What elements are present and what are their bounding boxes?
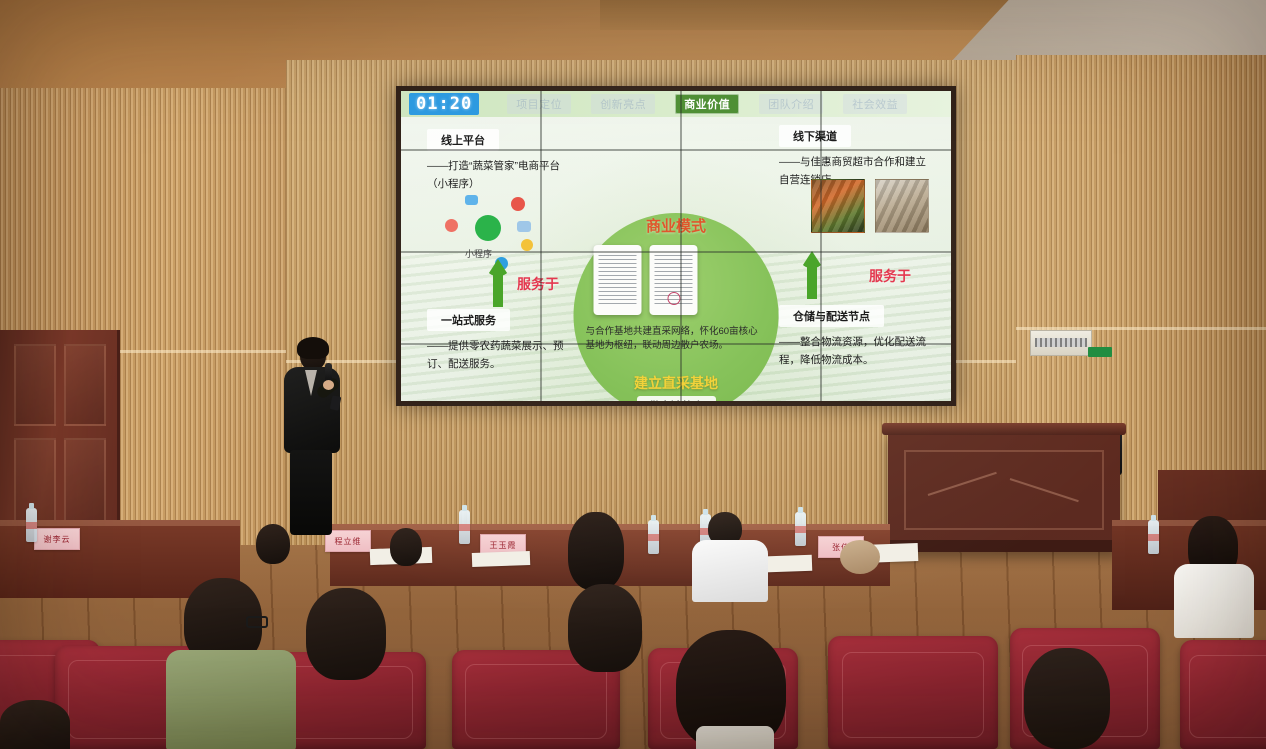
chip-offline-channel: 线下渠道	[779, 125, 851, 147]
panel-seam-h1	[401, 149, 951, 151]
chip-warehouse-node: 仓储与配送节点	[779, 305, 884, 327]
slide-tabs: 项目定位 创新亮点 商业价值 团队介绍 社会效益	[507, 94, 907, 114]
supply-chain-chip: 供应链整合	[637, 396, 716, 401]
door-panel-upper	[14, 344, 56, 426]
red-seal-icon	[668, 292, 681, 305]
judge-hair-long	[568, 512, 624, 590]
water-bottle	[795, 512, 806, 546]
chip-onestop-service: 一站式服务	[427, 309, 510, 331]
panel-seam-v2	[680, 91, 682, 401]
presenter-speaker	[276, 340, 346, 535]
staff-white-shirt	[1174, 564, 1254, 638]
door-panel-upper-2	[64, 344, 106, 426]
video-wall-frame: 01:20 项目定位 创新亮点 商业价值 团队介绍 社会效益 与合	[396, 86, 956, 406]
block-onestop-service: 一站式服务 ——提供零农药蔬菜展示、预订、配送服务。	[427, 309, 577, 374]
arrow-up-left-icon	[487, 259, 509, 307]
photo-supermarket	[875, 179, 929, 233]
presentation-screen[interactable]: 01:20 项目定位 创新亮点 商业价值 团队介绍 社会效益 与合	[401, 91, 951, 401]
water-bottle	[459, 510, 470, 544]
slide-nav-bar: 01:20 项目定位 创新亮点 商业价值 团队介绍 社会效益	[401, 91, 951, 117]
circle-body-text: 与合作基地共建直采网络，怀化60亩核心基地为枢纽，联动周边散户农场。	[586, 325, 767, 354]
exit-sign-icon	[1088, 347, 1112, 357]
judge-head-blonde	[840, 540, 880, 574]
app-icon-red	[511, 197, 525, 211]
arrow-stem-left	[493, 275, 503, 307]
label-serve-right: 服务于	[869, 266, 911, 286]
text-online-platform: ——打造“蔬菜管家”电商平台（小程序）	[427, 158, 577, 194]
audience-seat	[828, 636, 998, 749]
audience-head	[568, 584, 642, 672]
water-bottle	[1148, 520, 1159, 554]
audience-green-shirt	[166, 650, 296, 749]
panel-seam-h2	[401, 251, 951, 253]
block-online-platform: 线上平台 ——打造“蔬菜管家”电商平台（小程序）	[427, 129, 577, 194]
document-thumbnail-right	[650, 245, 698, 315]
arrow-head-left	[487, 259, 509, 276]
audience-head	[0, 700, 70, 749]
audience-head	[1024, 648, 1110, 749]
podium-base	[884, 540, 1124, 552]
label-serve-left: 服务于	[517, 274, 559, 294]
app-icon-coral	[445, 219, 458, 232]
audience-seat	[1180, 640, 1266, 749]
block-warehouse-node: 仓储与配送节点 ——整合物流资源，优化配送流程，降低物流成本。	[779, 305, 929, 370]
electrical-panel	[1030, 330, 1092, 356]
presenter-trousers	[290, 450, 332, 535]
circle-highlight-text: 建立直采基地	[574, 373, 779, 393]
wechat-miniprogram-icon	[475, 215, 501, 241]
conference-hall-scene: 01:20 项目定位 创新亮点 商业价值 团队介绍 社会效益 与合	[0, 0, 1266, 749]
text-warehouse-node: ——整合物流资源，优化配送流程，降低物流成本。	[779, 334, 929, 370]
arrow-stem-right	[807, 267, 817, 299]
judge-head	[390, 528, 422, 566]
tab-business-value[interactable]: 商业价值	[675, 94, 739, 114]
lectern-podium	[888, 432, 1120, 552]
presenter-hair	[297, 337, 329, 359]
panel-seam-v3	[820, 91, 822, 401]
table-edge-right	[1112, 520, 1266, 526]
document-thumbnail-left	[594, 245, 642, 315]
chip-online-platform: 线上平台	[427, 129, 499, 151]
panel-seam-v1	[540, 91, 542, 401]
app-icon-blue	[465, 195, 478, 205]
podium-top	[882, 423, 1126, 435]
document-lines	[599, 255, 637, 307]
water-bottle	[26, 508, 37, 542]
water-bottle	[648, 520, 659, 554]
app-icon-yellow	[521, 239, 533, 251]
document-papers	[472, 551, 530, 567]
audience-head	[306, 588, 386, 680]
ceiling-beam	[600, 0, 1040, 30]
tab-innovation[interactable]: 创新亮点	[591, 94, 655, 114]
panel-seam-h3	[401, 343, 951, 345]
judge-white-shirt	[692, 540, 768, 602]
presenter-hand	[323, 380, 334, 390]
audience-floral-top	[696, 726, 774, 749]
eyeglasses-icon	[246, 616, 268, 628]
countdown-timer: 01:20	[409, 93, 479, 115]
circle-title: 商业模式	[646, 215, 706, 236]
tab-social-benefit[interactable]: 社会效益	[843, 94, 907, 114]
namecard: 谢李云	[34, 528, 80, 550]
app-icon-chart	[517, 221, 531, 232]
podium-inset-panel	[904, 450, 1104, 530]
tab-team[interactable]: 团队介绍	[759, 94, 823, 114]
breaker-row	[1035, 338, 1087, 347]
